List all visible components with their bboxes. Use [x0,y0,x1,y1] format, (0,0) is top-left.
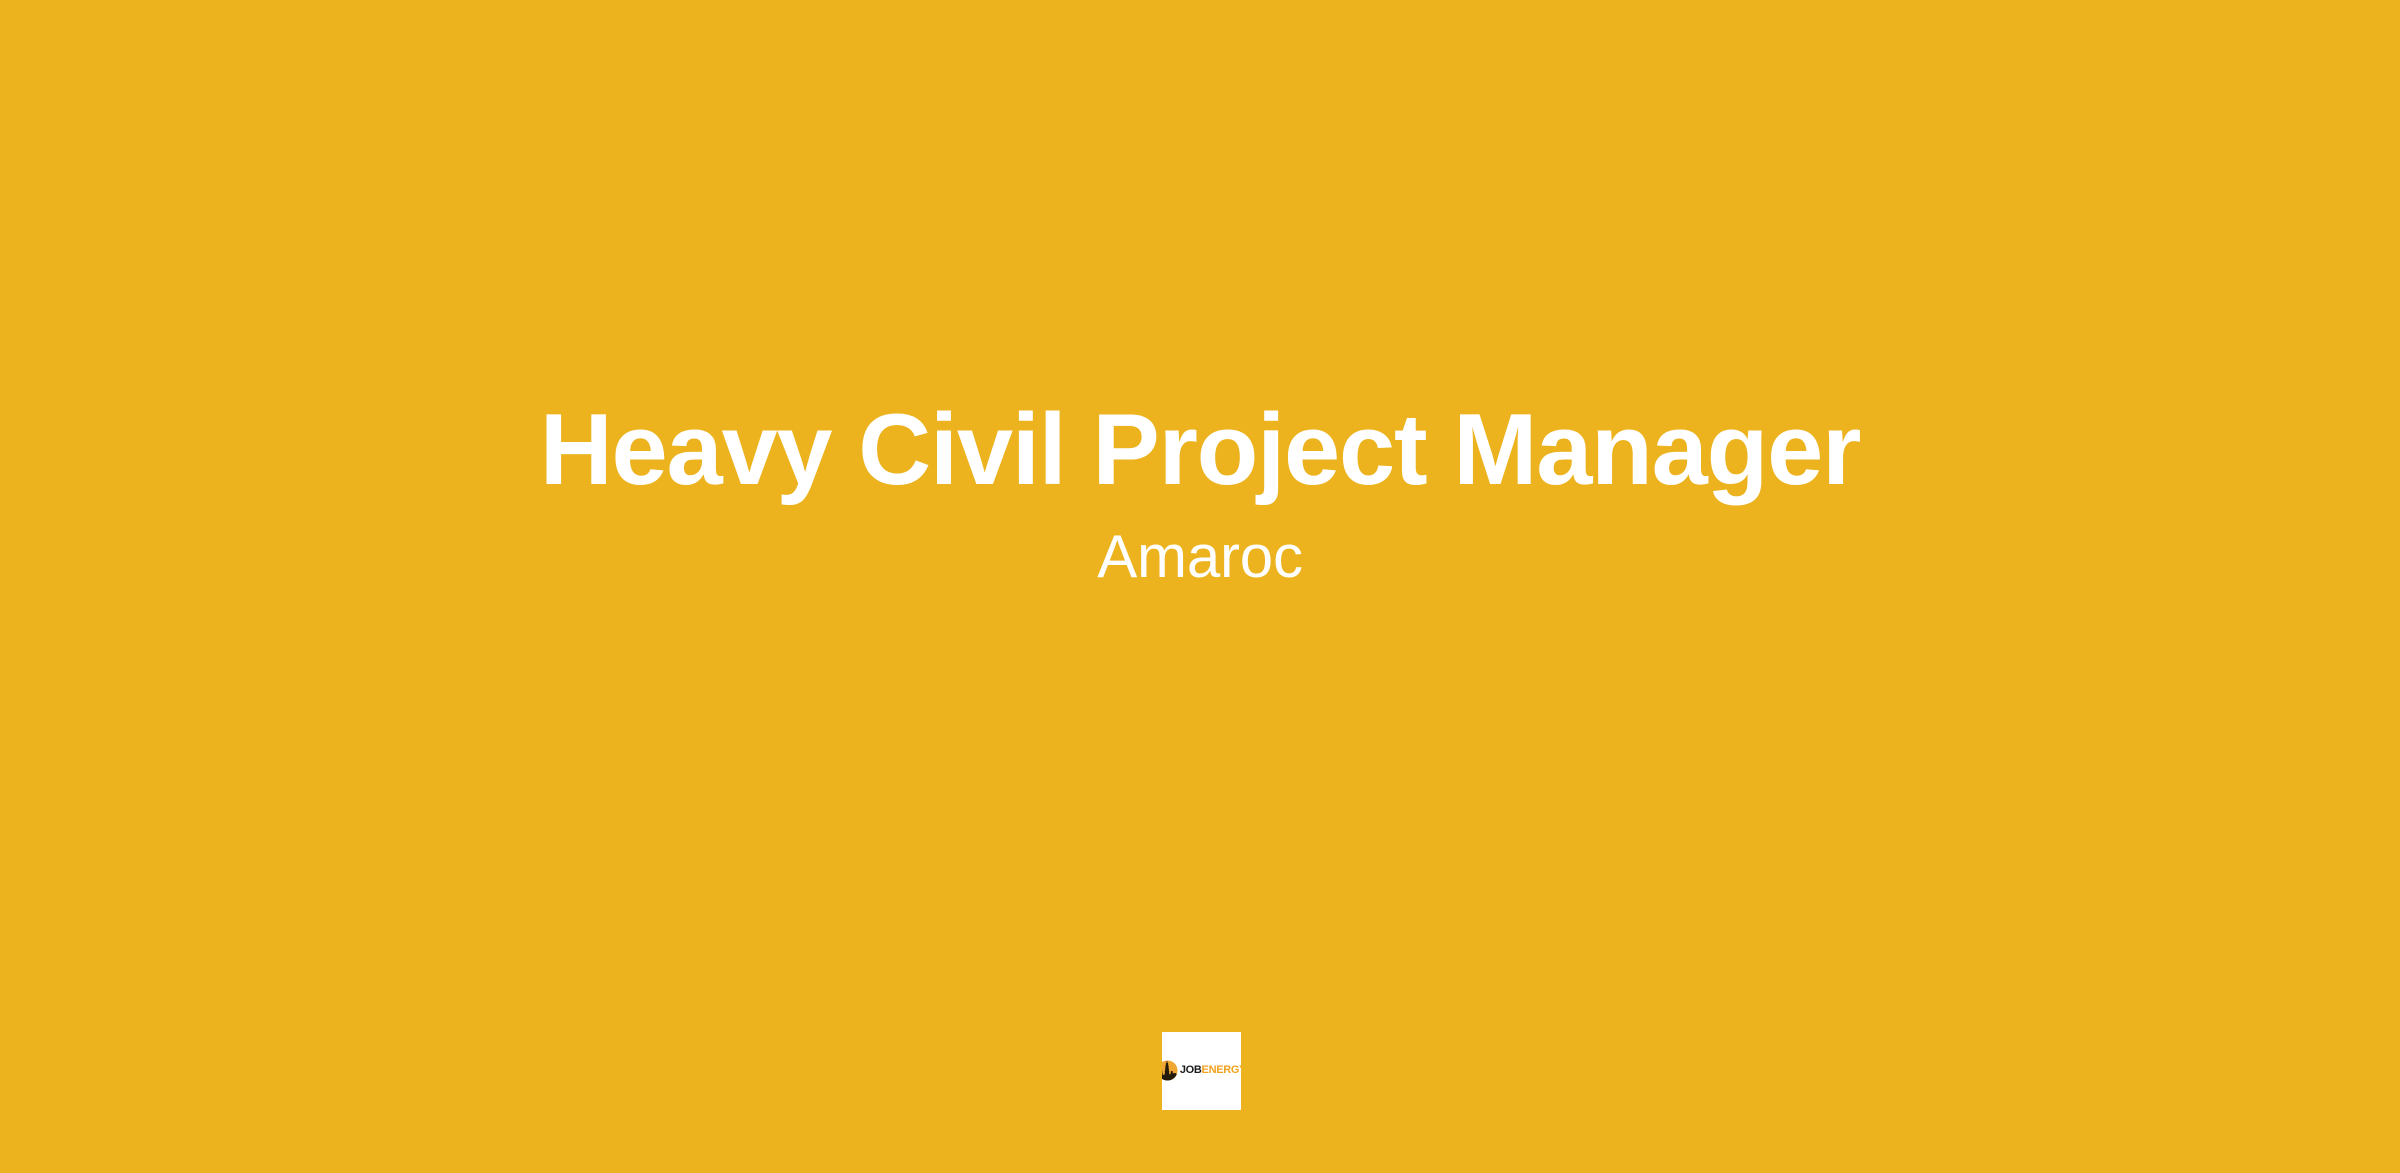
page-title: Heavy Civil Project Manager [540,392,1860,509]
brand-wordmark-energy: ENERGY [1202,1064,1241,1076]
hero-section: Heavy Civil Project Manager Amaroc [0,0,2400,1173]
brand-logo-lockup: JOBENERGY [1162,1060,1241,1081]
oil-derrick-sun-icon [1162,1060,1178,1081]
brand-wordmark-job: JOB [1180,1064,1202,1076]
brand-logo-card: JOBENERGY [1162,1032,1241,1110]
job-splash-screen: Heavy Civil Project Manager Amaroc [0,0,2400,1173]
company-name: Amaroc [1097,521,1303,593]
brand-wordmark: JOBENERGY [1180,1065,1241,1076]
